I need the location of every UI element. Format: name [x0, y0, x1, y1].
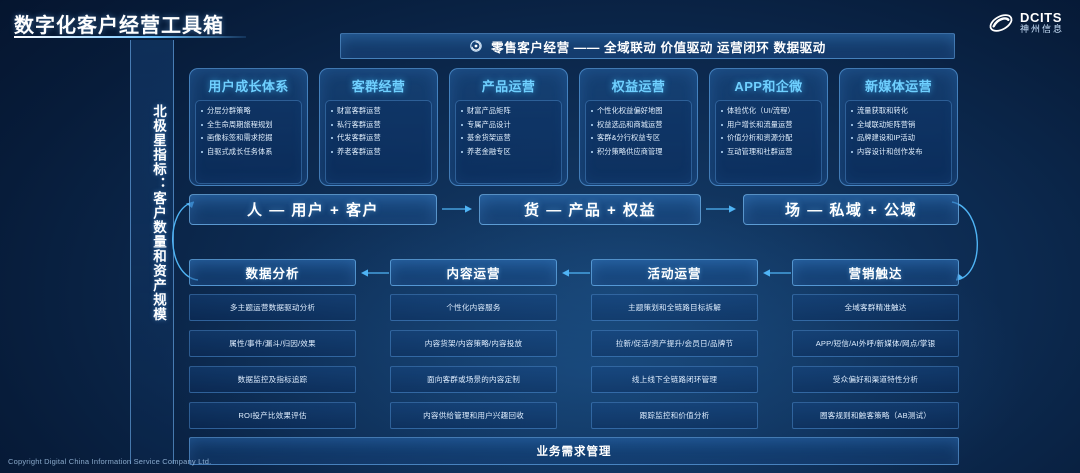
grid-cell[interactable]: 面向客群或场景的内容定制	[390, 366, 557, 393]
pillar-item-label: 养老客群运营	[337, 147, 381, 157]
page-title: 数字化客户经营工具箱	[14, 8, 246, 38]
operation-head-row: 数据分析 内容运营 活动运营 营销触达	[189, 259, 959, 286]
grid-cell-label: 内容货架/内容策略/内容投放	[425, 338, 522, 349]
pillar-card-title: 权益运营	[585, 76, 692, 95]
brand-logo: DCITS 神州信息	[988, 10, 1064, 36]
pillar-item: 客群&分行权益专区	[589, 133, 688, 143]
grid-cell-label: 圈客规则和触客策略（AB测试）	[820, 410, 931, 421]
hgc-pill-people[interactable]: 人 — 用户 + 客户	[189, 194, 437, 225]
pillar-item-label: 代发客群运营	[337, 133, 381, 143]
business-demand-bar[interactable]: 业务需求管理	[189, 437, 959, 465]
head-pill-content-ops[interactable]: 内容运营	[390, 259, 557, 286]
pillar-item: 养老金融专区	[459, 147, 558, 157]
pillar-item: 品牌建设和IP活动	[849, 133, 948, 143]
grid-cell-label: 数据监控及指标追踪	[238, 374, 308, 385]
pillar-item-label: 专属产品设计	[467, 120, 511, 130]
pillar-card-body: 流量获取和转化 全域联动矩阵营销 品牌建设和IP活动 内容设计和创作发布	[845, 100, 952, 184]
pillar-item: 私行客群运营	[329, 120, 428, 130]
pillar-item: 代发客群运营	[329, 133, 428, 143]
pillar-card-title: APP和企微	[715, 76, 822, 95]
pillar-card[interactable]: APP和企微 体验优化（UI/流程） 用户增长和流量运营 价值分析和资源分配 互…	[709, 68, 828, 186]
grid-cell-label: 面向客群或场景的内容定制	[427, 374, 520, 385]
business-demand-label: 业务需求管理	[537, 443, 612, 459]
head-pill-label: 内容运营	[446, 263, 500, 282]
head-pill-label: 活动运营	[647, 263, 701, 282]
hgc-row: 人 — 用户 + 客户 货 — 产品 + 权益 场 — 私域 + 公域	[189, 194, 959, 225]
pillar-item-label: 积分策略供应商管理	[597, 147, 663, 157]
grid-cell[interactable]: ROI投产比效果评估	[189, 402, 356, 429]
pillar-item: 权益选品和商城运营	[589, 120, 688, 130]
strategy-banner: 零售客户经营 —— 全域联动 价值驱动 运营闭环 数据驱动	[340, 33, 955, 59]
pillar-item-label: 财富客群运营	[337, 106, 381, 116]
grid-cell-label: 多主题运营数据驱动分析	[230, 302, 315, 313]
pillar-card[interactable]: 用户成长体系 分层分群策略 全生命周期旅程规划 画像标签和需求挖掘 自驱式成长任…	[189, 68, 308, 186]
pillar-item: 流量获取和转化	[849, 106, 948, 116]
pillar-item-label: 用户增长和流量运营	[727, 120, 793, 130]
grid-cell[interactable]: 属性/事件/漏斗/归因/效果	[189, 330, 356, 357]
arrow-left-icon	[562, 267, 590, 279]
grid-cell-label: 属性/事件/漏斗/归因/效果	[229, 338, 315, 349]
head-pill-label: 营销触达	[848, 263, 902, 282]
arrow-left-icon	[361, 267, 389, 279]
grid-cell-label: 受众偏好和渠道特性分析	[833, 374, 918, 385]
hgc-pill-goods[interactable]: 货 — 产品 + 权益	[479, 194, 701, 225]
grid-cell-label: 线上线下全链路闭环管理	[632, 374, 717, 385]
pillar-item: 自驱式成长任务体系	[199, 147, 298, 157]
grid-cell-label: 全域客群精准触达	[845, 302, 907, 313]
pillar-item-label: 私行客群运营	[337, 120, 381, 130]
pillar-item-label: 个性化权益偏好地图	[597, 106, 663, 116]
head-pill-campaign-ops[interactable]: 活动运营	[591, 259, 758, 286]
pillar-item: 用户增长和流量运营	[719, 120, 818, 130]
dcits-swirl-icon	[988, 10, 1014, 36]
pillar-item: 专属产品设计	[459, 120, 558, 130]
grid-cell[interactable]: 内容供给管理和用户兴趣回收	[390, 402, 557, 429]
pillar-item-label: 全生命周期旅程规划	[207, 120, 273, 130]
head-pill-label: 数据分析	[245, 263, 299, 282]
pillar-item-label: 互动管理和社群运营	[727, 147, 793, 157]
pillar-card-title: 客群经营	[325, 76, 432, 95]
grid-cell[interactable]: 内容货架/内容策略/内容投放	[390, 330, 557, 357]
pillar-item: 分层分群策略	[199, 106, 298, 116]
target-circle-icon	[469, 39, 483, 53]
arrow-right-icon	[706, 203, 738, 215]
pillar-item-label: 价值分析和资源分配	[727, 133, 793, 143]
pillar-item: 全域联动矩阵营销	[849, 120, 948, 130]
slide-canvas: 数字化客户经营工具箱 DCITS 神州信息 北极星指标：客户数量和资产规模 零售…	[0, 0, 1080, 473]
pillar-card-body: 财富客群运营 私行客群运营 代发客群运营 养老客群运营	[325, 100, 432, 184]
pillar-card-body: 分层分群策略 全生命周期旅程规划 画像标签和需求挖掘 自驱式成长任务体系	[195, 100, 302, 184]
grid-cell-label: ROI投产比效果评估	[238, 410, 306, 421]
grid-cell[interactable]: 数据监控及指标追踪	[189, 366, 356, 393]
pillar-item: 养老客群运营	[329, 147, 428, 157]
north-star-label: 北极星指标：客户数量和资产规模	[136, 104, 168, 322]
pillar-item-label: 画像标签和需求挖掘	[207, 133, 273, 143]
pillar-item: 财富产品矩阵	[459, 106, 558, 116]
grid-cell[interactable]: 多主题运营数据驱动分析	[189, 294, 356, 321]
grid-cell[interactable]: 圈客规则和触客策略（AB测试）	[792, 402, 959, 429]
pillar-item-label: 权益选品和商城运营	[597, 120, 663, 130]
logo-text-cn: 神州信息	[1020, 25, 1064, 34]
pillar-item-label: 财富产品矩阵	[467, 106, 511, 116]
pillar-item-label: 分层分群策略	[207, 106, 251, 116]
grid-cell[interactable]: 拉新/促活/资产提升/会员日/品牌节	[591, 330, 758, 357]
grid-cell[interactable]: APP/短信/AI外呼/新媒体/网点/掌银	[792, 330, 959, 357]
pillar-item: 基金货架运营	[459, 133, 558, 143]
grid-cell[interactable]: 跟踪监控和价值分析	[591, 402, 758, 429]
pillar-card-body: 财富产品矩阵 专属产品设计 基金货架运营 养老金融专区	[455, 100, 562, 184]
strategy-banner-text: 零售客户经营 —— 全域联动 价值驱动 运营闭环 数据驱动	[491, 37, 826, 56]
head-pill-marketing-reach[interactable]: 营销触达	[792, 259, 959, 286]
pillar-card[interactable]: 客群经营 财富客群运营 私行客群运营 代发客群运营 养老客群运营	[319, 68, 438, 186]
pillar-item-label: 内容设计和创作发布	[857, 147, 923, 157]
grid-cell[interactable]: 个性化内容服务	[390, 294, 557, 321]
pillar-card[interactable]: 新媒体运营 流量获取和转化 全域联动矩阵营销 品牌建设和IP活动 内容设计和创作…	[839, 68, 958, 186]
pillar-card[interactable]: 产品运营 财富产品矩阵 专属产品设计 基金货架运营 养老金融专区	[449, 68, 568, 186]
hgc-pill-label: 场 — 私域 + 公域	[785, 199, 917, 220]
pillar-item: 内容设计和创作发布	[849, 147, 948, 157]
pillar-card-row: 用户成长体系 分层分群策略 全生命周期旅程规划 画像标签和需求挖掘 自驱式成长任…	[189, 68, 959, 186]
arrow-left-icon	[763, 267, 791, 279]
pillar-item-label: 流量获取和转化	[857, 106, 908, 116]
pillar-item: 积分策略供应商管理	[589, 147, 688, 157]
pillar-item: 全生命周期旅程规划	[199, 120, 298, 130]
pillar-card-title: 新媒体运营	[845, 76, 952, 95]
pillar-item: 互动管理和社群运营	[719, 147, 818, 157]
pillar-item: 画像标签和需求挖掘	[199, 133, 298, 143]
pillar-item-label: 自驱式成长任务体系	[207, 147, 273, 157]
pillar-item: 价值分析和资源分配	[719, 133, 818, 143]
grid-cell[interactable]: 全域客群精准触达	[792, 294, 959, 321]
pillar-item: 财富客群运营	[329, 106, 428, 116]
grid-cell-label: 跟踪监控和价值分析	[640, 410, 710, 421]
hgc-pill-label: 货 — 产品 + 权益	[524, 199, 656, 220]
grid-cell-label: APP/短信/AI外呼/新媒体/网点/掌银	[816, 338, 936, 349]
grid-cell-label: 个性化内容服务	[446, 302, 500, 313]
pillar-item-label: 体验优化（UI/流程）	[727, 106, 795, 116]
grid-cell-label: 内容供给管理和用户兴趣回收	[423, 410, 524, 421]
capability-grid: 多主题运营数据驱动分析 属性/事件/漏斗/归因/效果 数据监控及指标追踪 ROI…	[189, 294, 959, 429]
pillar-item: 体验优化（UI/流程）	[719, 106, 818, 116]
arrow-right-icon	[442, 203, 474, 215]
grid-cell[interactable]: 受众偏好和渠道特性分析	[792, 366, 959, 393]
pillar-item-label: 品牌建设和IP活动	[857, 133, 915, 143]
page-title-text: 数字化客户经营工具箱	[14, 9, 224, 38]
pillar-card-body: 个性化权益偏好地图 权益选品和商城运营 客群&分行权益专区 积分策略供应商管理	[585, 100, 692, 184]
title-underline	[14, 36, 246, 38]
hgc-pill-label: 人 — 用户 + 客户	[247, 199, 379, 220]
pillar-item-label: 客群&分行权益专区	[597, 133, 660, 143]
pillar-card-body: 体验优化（UI/流程） 用户增长和流量运营 价值分析和资源分配 互动管理和社群运…	[715, 100, 822, 184]
pillar-item-label: 基金货架运营	[467, 133, 511, 143]
pillar-card-title: 用户成长体系	[195, 76, 302, 95]
pillar-item-label: 全域联动矩阵营销	[857, 120, 915, 130]
grid-cell[interactable]: 线上线下全链路闭环管理	[591, 366, 758, 393]
head-pill-data-analysis[interactable]: 数据分析	[189, 259, 356, 286]
pillar-card[interactable]: 权益运营 个性化权益偏好地图 权益选品和商城运营 客群&分行权益专区 积分策略供…	[579, 68, 698, 186]
pillar-item: 个性化权益偏好地图	[589, 106, 688, 116]
grid-cell-label: 拉新/促活/资产提升/会员日/品牌节	[616, 338, 733, 349]
grid-cell[interactable]: 主题策划和全链路目标拆解	[591, 294, 758, 321]
grid-cell-label: 主题策划和全链路目标拆解	[628, 302, 721, 313]
pillar-card-title: 产品运营	[455, 76, 562, 95]
copyright-text: Copyright Digital China Information Serv…	[8, 457, 211, 466]
pillar-item-label: 养老金融专区	[467, 147, 511, 157]
hgc-pill-place[interactable]: 场 — 私域 + 公域	[743, 194, 959, 225]
